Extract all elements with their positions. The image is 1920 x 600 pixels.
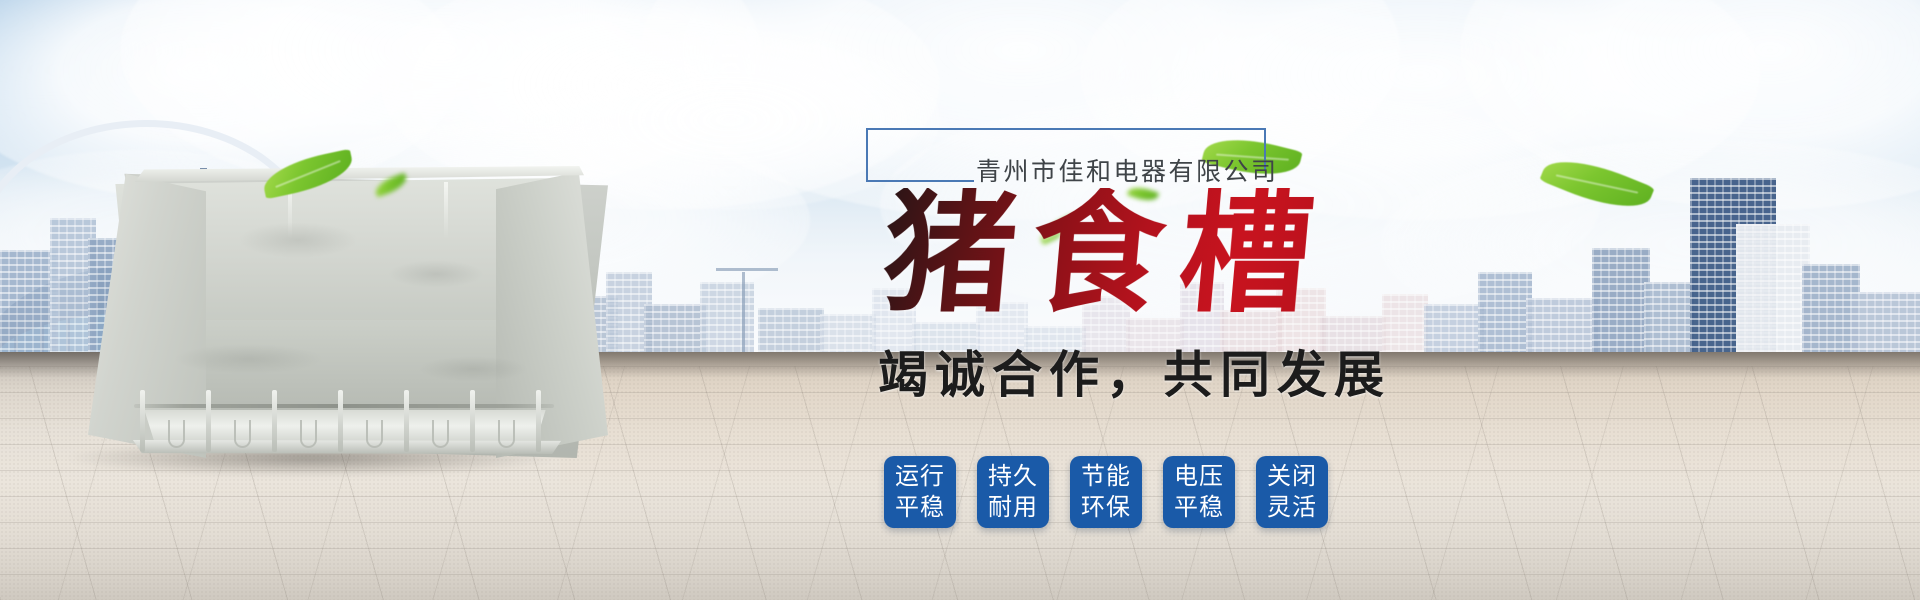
badge-line-2: 平稳 (1174, 492, 1224, 523)
frame-top-line (866, 128, 1266, 130)
badge-line-1: 运行 (895, 461, 945, 492)
feature-badge[interactable]: 节能 环保 (1070, 456, 1142, 528)
feature-badge[interactable]: 运行 平稳 (884, 456, 956, 528)
feature-badge[interactable]: 持久 耐用 (977, 456, 1049, 528)
feature-badge-list: 运行 平稳 持久 耐用 节能 环保 电压 平稳 关闭 灵活 (884, 456, 1328, 528)
frame-left-line (866, 128, 868, 182)
badge-line-2: 平稳 (895, 492, 945, 523)
banner-subtitle: 竭诚合作，共同发展 (878, 350, 1391, 400)
badge-line-1: 电压 (1174, 461, 1224, 492)
page-title: 猪食槽 (878, 188, 1334, 320)
feature-badge[interactable]: 电压 平稳 (1163, 456, 1235, 528)
badge-line-2: 耐用 (988, 492, 1038, 523)
badge-line-1: 关闭 (1267, 461, 1317, 492)
banner-copy: 青州市佳和电器有限公司 猪食槽 竭诚合作，共同发展 运行 平稳 持久 耐用 节能… (0, 0, 1920, 600)
badge-line-1: 持久 (988, 461, 1038, 492)
company-name-frame: 青州市佳和电器有限公司 (866, 128, 1266, 182)
badge-line-2: 环保 (1081, 492, 1131, 523)
badge-line-1: 节能 (1081, 461, 1131, 492)
feature-badge[interactable]: 关闭 灵活 (1256, 456, 1328, 528)
promo-banner: 青州市佳和电器有限公司 猪食槽 竭诚合作，共同发展 运行 平稳 持久 耐用 节能… (0, 0, 1920, 600)
badge-line-2: 灵活 (1267, 492, 1317, 523)
